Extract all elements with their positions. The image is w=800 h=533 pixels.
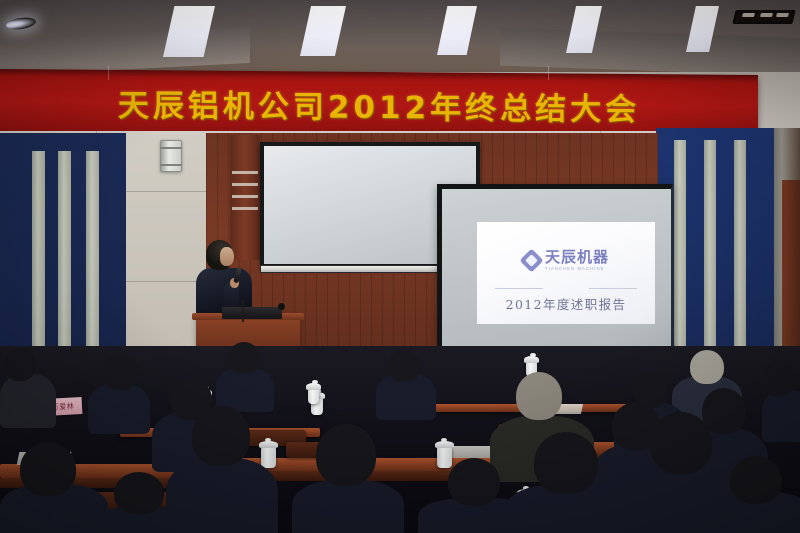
podium-mic-head-icon — [278, 303, 285, 310]
column-band — [232, 171, 258, 174]
audience-head — [192, 406, 250, 466]
event-banner: 天辰铝机公司2012年终总结大会 — [0, 69, 758, 137]
conference-room-photo: 天辰铝机公司2012年终总结大会 — [0, 0, 800, 533]
audience-person — [720, 456, 800, 533]
speaker-face — [220, 247, 234, 266]
audience-person — [92, 472, 202, 533]
audience-head — [228, 342, 260, 374]
ceiling-soffit-right — [500, 28, 800, 76]
audience-head — [650, 412, 712, 474]
audience-head — [534, 432, 598, 494]
audience-head — [730, 456, 782, 504]
slide-divider — [589, 288, 637, 289]
ceiling-panel-light — [300, 6, 346, 56]
teacup — [308, 388, 319, 404]
logo-english-name: TIANCHEN MACHINE — [545, 267, 609, 271]
audience-person — [0, 348, 56, 424]
column-band — [232, 195, 258, 198]
column-band — [232, 207, 258, 210]
podium-mic-stem-icon — [242, 300, 244, 322]
slide-divider — [495, 288, 543, 289]
podium-equipment — [222, 307, 282, 319]
banner-string — [548, 66, 549, 80]
audience-person — [292, 424, 404, 533]
audience-torso — [88, 384, 150, 434]
audience-head — [448, 458, 500, 506]
audience-head — [102, 354, 138, 390]
audience-head — [690, 350, 724, 384]
corner-spotlight-icon — [5, 16, 36, 31]
wall-sconce-left-icon — [160, 140, 182, 172]
ceiling — [0, 0, 800, 75]
slide-title: 2012年度述职报告 — [477, 294, 655, 313]
diamond-logo-icon — [519, 249, 543, 273]
audience-person — [88, 354, 150, 432]
logo-chinese-name: 天辰机器 — [545, 250, 609, 265]
audience-head — [316, 424, 376, 486]
audience-head — [388, 350, 420, 382]
audience-person — [418, 458, 538, 533]
audience-head — [516, 372, 562, 420]
banner-string — [108, 66, 109, 80]
audience-head — [114, 472, 164, 514]
presentation-slide: 天辰机器 TIANCHEN MACHINE 2012年度述职报告 — [477, 222, 655, 324]
audience-area: 万爱林 — [0, 346, 800, 533]
banner-text: 天辰铝机公司2012年终总结大会 — [118, 79, 640, 128]
company-logo: 天辰机器 TIANCHEN MACHINE — [477, 250, 655, 271]
audience-person — [376, 350, 436, 416]
audience-torso — [292, 480, 404, 533]
audience-torso — [0, 374, 56, 428]
audience-head — [4, 348, 36, 381]
recessed-ceiling-fixture-icon — [732, 10, 795, 24]
audience-head — [20, 442, 76, 496]
column-band — [232, 183, 258, 186]
ceiling-panel-light — [437, 6, 477, 55]
door-panel — [782, 180, 800, 360]
projection-screen-assembly: 天辰机器 TIANCHEN MACHINE 2012年度述职报告 — [437, 184, 673, 362]
